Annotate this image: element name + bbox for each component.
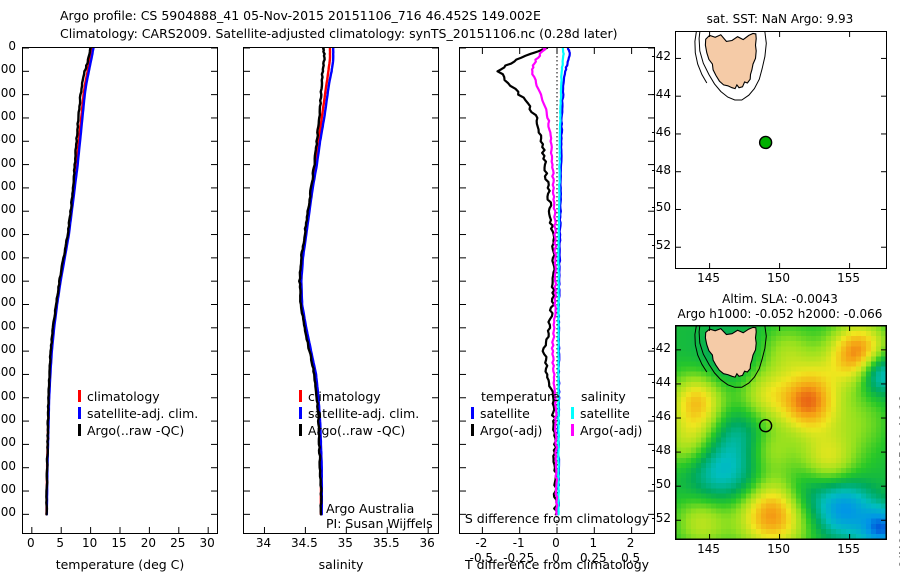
sst-map-lat-tick-label: -52 — [641, 238, 671, 252]
salinity-tick-label: 36 — [403, 536, 451, 550]
depth-tick-label: 500 — [0, 156, 16, 170]
argo-australia-annotation: Argo Australia — [326, 501, 414, 516]
sst-map-lon-tick-label: 145 — [689, 271, 729, 285]
salinity-axis-label: salinity — [243, 557, 439, 572]
depth-tick-label: 1900 — [0, 482, 16, 496]
salinity-profile-panel — [243, 47, 439, 534]
sla-map-lat-tick-label: -50 — [641, 477, 671, 491]
sla-map-plot — [676, 326, 886, 539]
difference-legend-heading-salinity: salinity — [581, 389, 626, 404]
sst-map-lat-tick-label: -48 — [641, 163, 671, 177]
temperature-axis-label: temperature (deg C) — [22, 557, 218, 572]
difference-t-tick-label: 0 — [536, 536, 576, 550]
depth-tick-label: 900 — [0, 249, 16, 263]
legend-label-1: satellite-adj. clim. — [87, 406, 198, 421]
sla-map-lat-tick-label: -52 — [641, 511, 671, 525]
sla-map-title-line2: Argo h1000: -0.052 h2000: -0.066 — [660, 307, 900, 321]
difference-s-tick-label: 0.5 — [607, 551, 655, 565]
sla-map-lat-tick-label: -44 — [641, 375, 671, 389]
sla-map-lat-tick-label: -46 — [641, 409, 671, 423]
depth-tick-label: 700 — [0, 202, 16, 216]
figure-title-line2: Climatology: CARS2009. Satellite-adjuste… — [60, 26, 617, 41]
depth-tick-label: 1700 — [0, 435, 16, 449]
legend-swatch-1 — [78, 407, 81, 419]
temperature-profile-panel — [22, 47, 218, 534]
depth-tick-label: 1100 — [0, 295, 16, 309]
sla-map-lat-tick-label: -48 — [641, 443, 671, 457]
difference-legend-swatch-s-0 — [571, 407, 574, 419]
sla-map-lon-tick-label: 155 — [829, 542, 869, 556]
difference-legend-label-t-0: satellite — [480, 406, 530, 421]
legend-swatch-2 — [78, 424, 81, 436]
difference-legend-swatch-t-1 — [471, 424, 474, 436]
salinity-profile-plot — [244, 48, 438, 533]
difference-t-tick-label: -2 — [461, 536, 501, 550]
figure-title-line1: Argo profile: CS 5904888_41 05-Nov-2015 … — [60, 8, 541, 23]
depth-tick-label: 1300 — [0, 342, 16, 356]
sst-map-lat-tick-label: -44 — [641, 87, 671, 101]
legend-label-0: climatology — [87, 389, 160, 404]
depth-tick-label: 600 — [0, 179, 16, 193]
salinity-legend-label-0: climatology — [308, 389, 381, 404]
temperature-tick-label: 30 — [187, 536, 227, 550]
difference-legend-label-s-1: Argo(-adj) — [580, 423, 642, 438]
depth-tick-label: 0 — [0, 39, 16, 53]
sst-map-lat-tick-label: -50 — [641, 200, 671, 214]
salinity-legend-swatch-0 — [299, 390, 302, 402]
salinity-legend-swatch-1 — [299, 407, 302, 419]
difference-legend-label-t-1: Argo(-adj) — [480, 423, 542, 438]
sla-map-panel — [675, 325, 887, 540]
depth-tick-label: 100 — [0, 62, 16, 76]
pi-annotation: PI: Susan Wijffels — [326, 516, 433, 531]
difference-legend-label-s-0: satellite — [580, 406, 630, 421]
depth-tick-label: 2000 — [0, 505, 16, 519]
salinity-legend-swatch-2 — [299, 424, 302, 436]
difference-t-tick-label: 2 — [611, 536, 651, 550]
difference-t-tick-label: -1 — [499, 536, 539, 550]
depth-tick-label: 400 — [0, 132, 16, 146]
difference-legend-heading-temperature: temperature — [481, 389, 560, 404]
difference-profile-panel — [459, 47, 655, 534]
difference-legend-swatch-t-0 — [471, 407, 474, 419]
sst-map-lon-tick-label: 150 — [759, 271, 799, 285]
depth-tick-label: 1500 — [0, 389, 16, 403]
difference-t-tick-label: 1 — [573, 536, 613, 550]
s-difference-axis-label: S difference from climatology — [459, 511, 655, 526]
legend-swatch-0 — [78, 390, 81, 402]
legend-label-2: Argo(..raw -QC) — [87, 423, 184, 438]
sla-map-lon-tick-label: 145 — [689, 542, 729, 556]
sst-map-title: sat. SST: NaN Argo: 9.93 — [670, 12, 890, 26]
depth-tick-label: 800 — [0, 226, 16, 240]
sla-map-lat-tick-label: -42 — [641, 341, 671, 355]
depth-tick-label: 1000 — [0, 272, 16, 286]
depth-tick-label: 1600 — [0, 412, 16, 426]
salinity-legend-label-1: satellite-adj. clim. — [308, 406, 419, 421]
sst-map-lat-tick-label: -42 — [641, 49, 671, 63]
sst-map-lat-tick-label: -46 — [641, 125, 671, 139]
difference-legend-swatch-s-1 — [571, 424, 574, 436]
depth-tick-label: 1800 — [0, 459, 16, 473]
difference-profile-plot — [460, 48, 654, 533]
sla-map-lon-tick-label: 150 — [759, 542, 799, 556]
depth-tick-label: 200 — [0, 86, 16, 100]
depth-tick-label: 1400 — [0, 365, 16, 379]
sla-map-title-line1: Altim. SLA: -0.0043 — [670, 292, 890, 306]
depth-tick-label: 1200 — [0, 319, 16, 333]
temperature-profile-plot — [23, 48, 217, 533]
salinity-legend-label-2: Argo(..raw -QC) — [308, 423, 405, 438]
depth-tick-label: 300 — [0, 109, 16, 123]
sst-map-lon-tick-label: 155 — [829, 271, 869, 285]
sst-map-panel — [675, 31, 887, 269]
sst-map-plot — [676, 32, 886, 268]
